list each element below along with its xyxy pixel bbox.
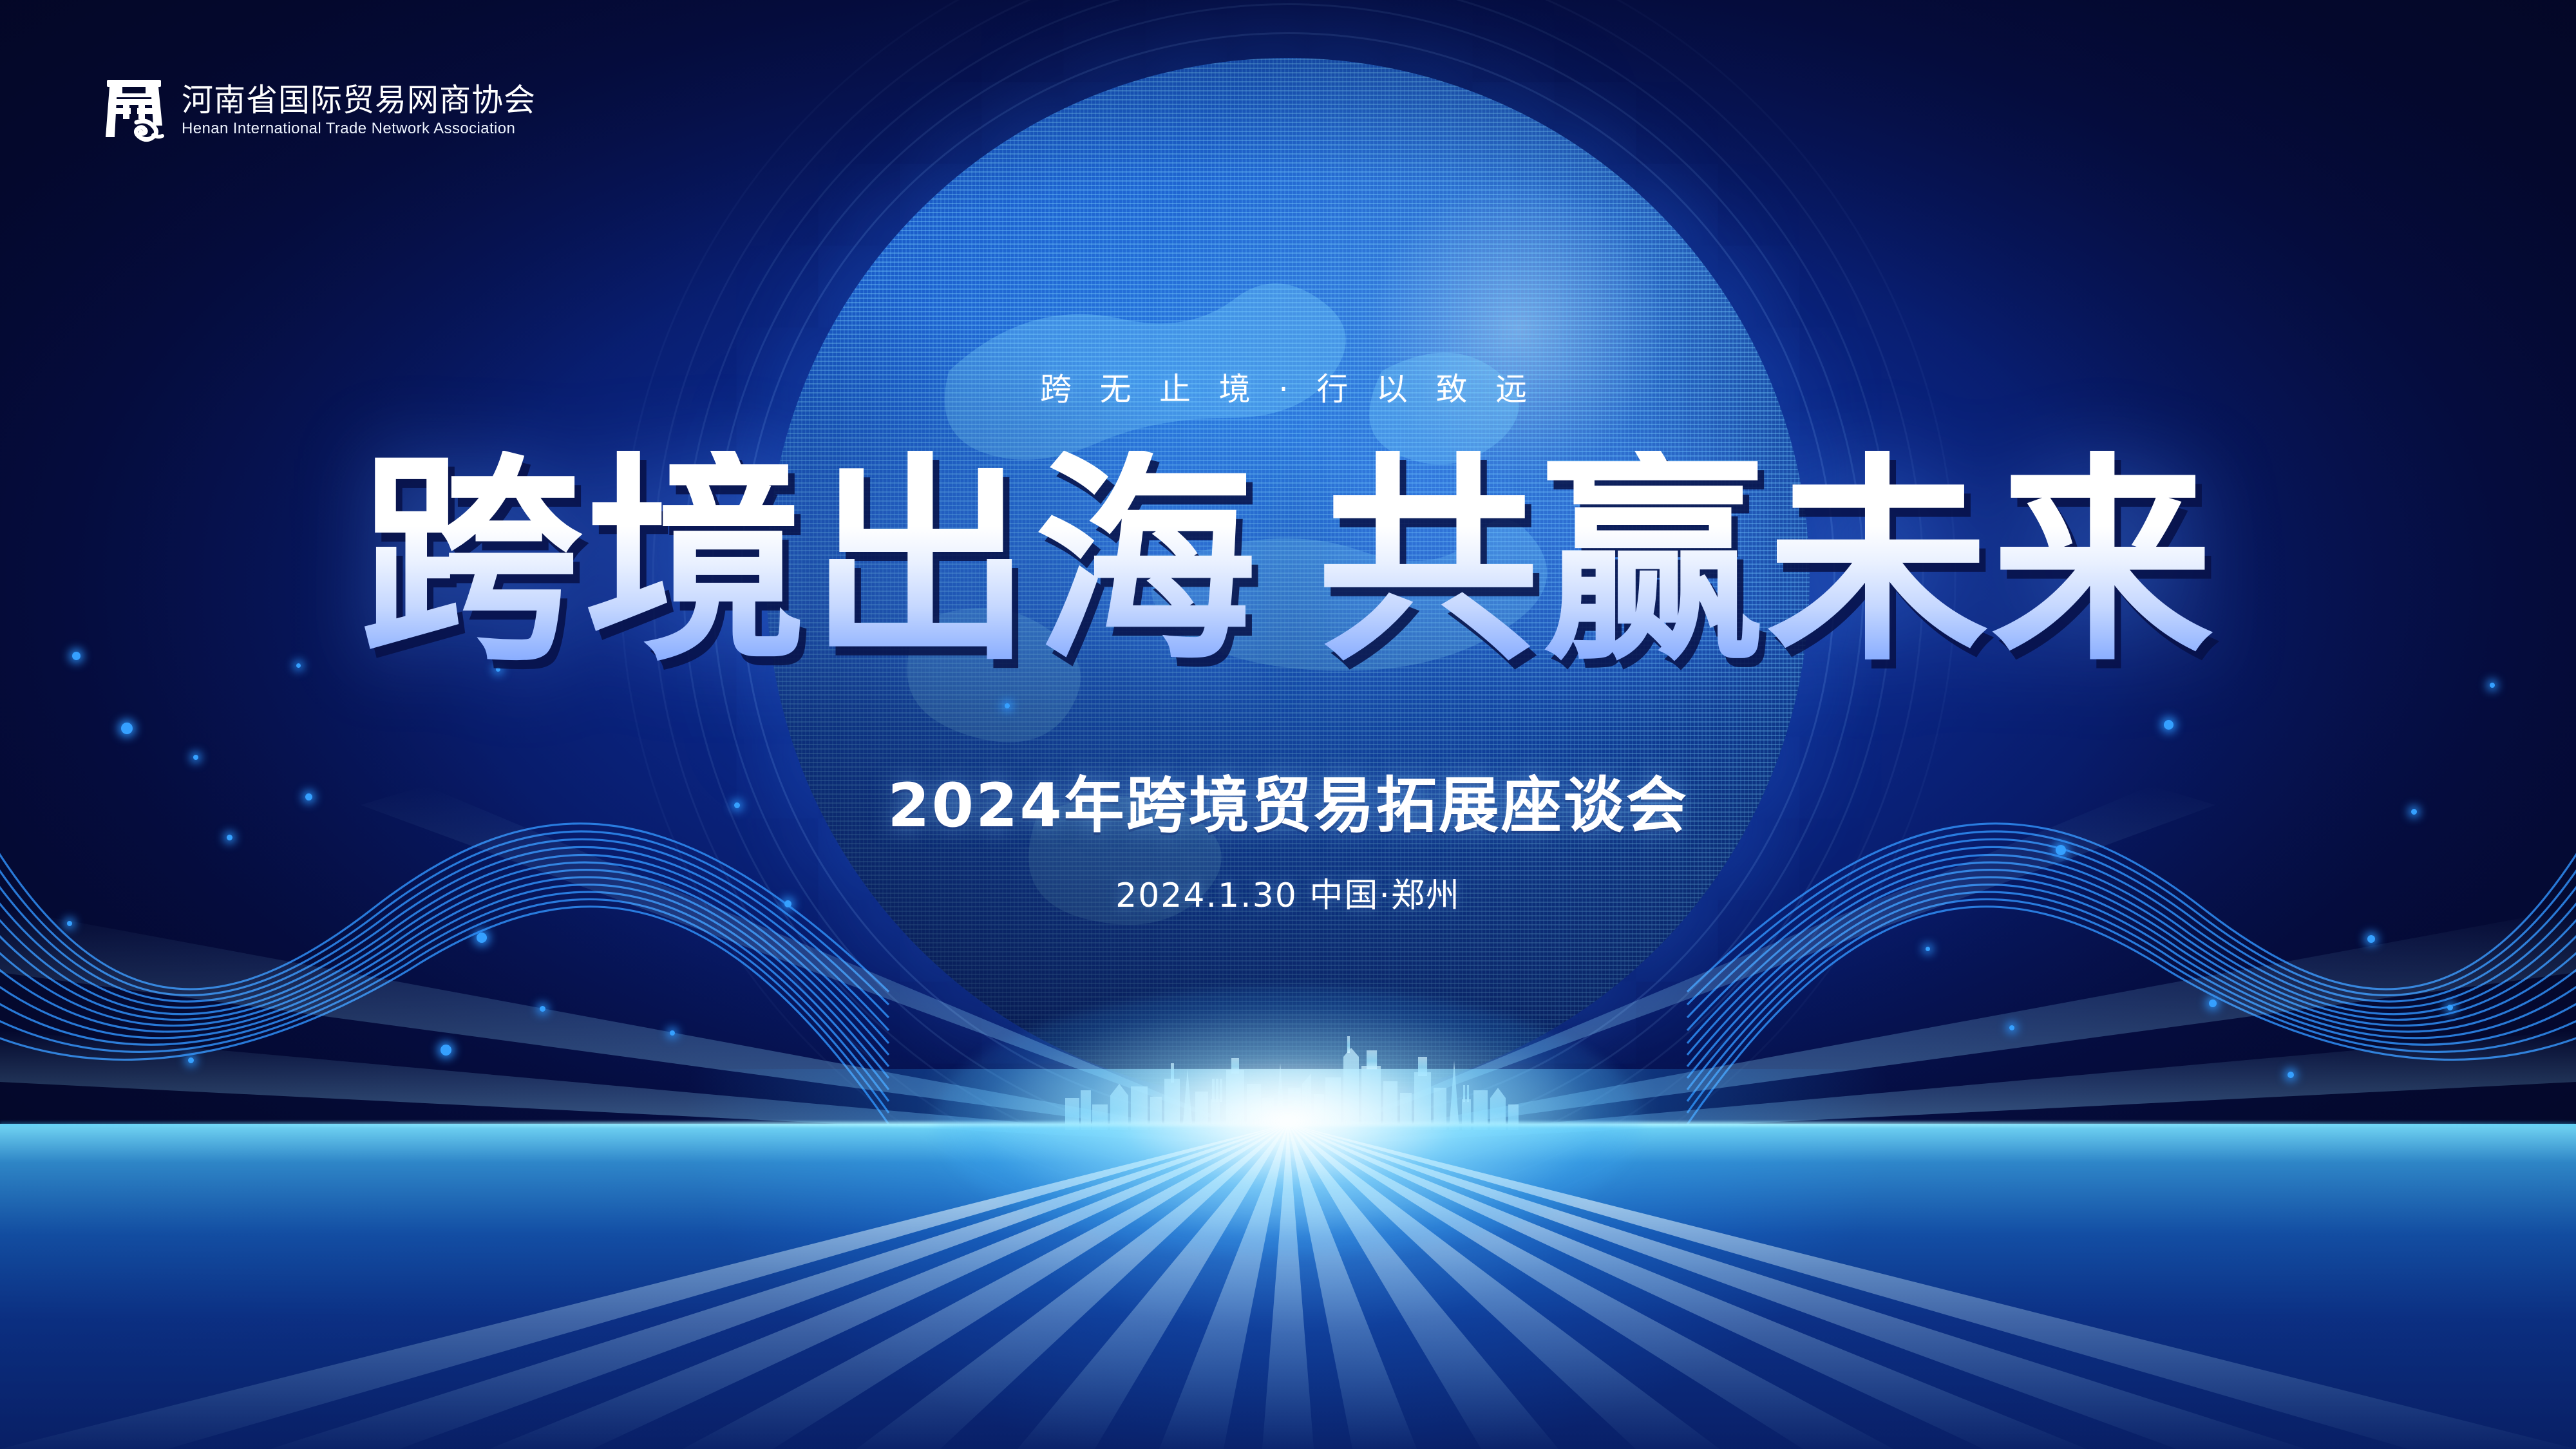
event-subtitle: 2024年跨境贸易拓展座谈会	[0, 757, 2576, 844]
logo-name-en: Henan International Trade Network Associ…	[182, 120, 536, 137]
event-tagline: 跨 无 止 境 · 行 以 致 远	[0, 364, 2576, 410]
event-headline: 跨境出海共赢未来	[0, 451, 2576, 673]
light-burst-core	[934, 987, 1642, 1257]
association-logo[interactable]: 河南省国际贸易网商协会 Henan International Trade Ne…	[103, 76, 536, 146]
headline-part-left: 跨境出海	[360, 451, 1259, 673]
poster-canvas: 河南省国际贸易网商协会 Henan International Trade Ne…	[0, 0, 2576, 1449]
seal-script-emblem-icon	[103, 76, 165, 146]
event-date-location: 2024.1.30 中国·郑州	[0, 868, 2576, 916]
headline-part-right: 共赢未来	[1317, 451, 2216, 673]
logo-name-cn: 河南省国际贸易网商协会	[182, 84, 536, 117]
